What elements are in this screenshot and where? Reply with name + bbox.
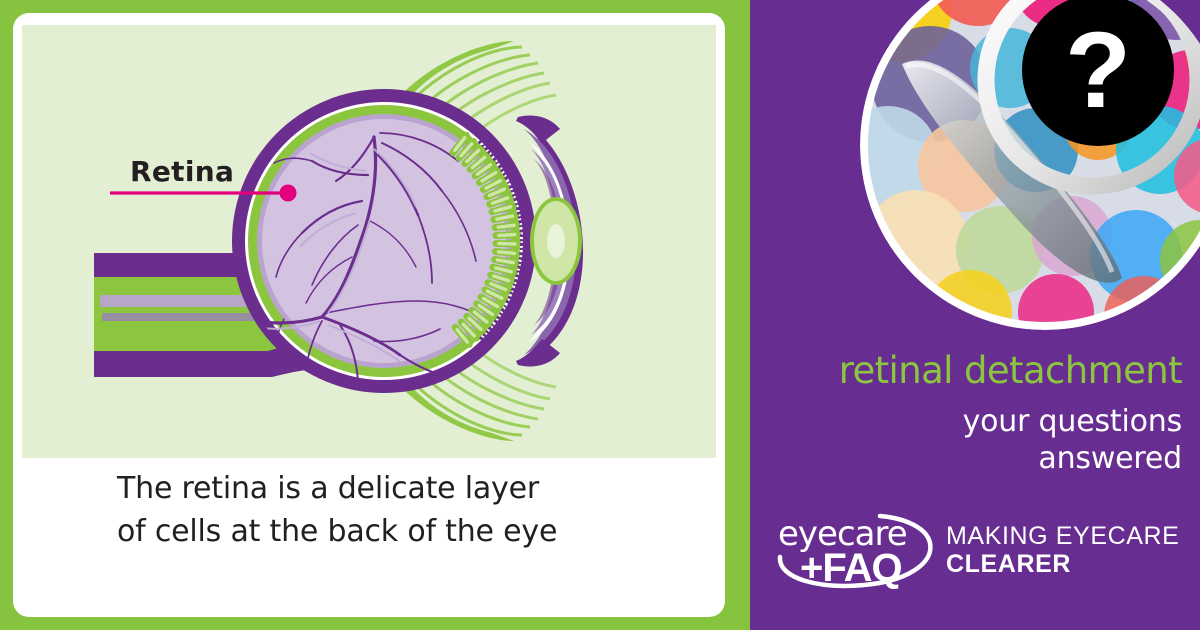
eyecare-faq-logo: eyecare +FAQ (772, 505, 937, 590)
poster-headline: retinal detachment (750, 352, 1182, 389)
info-card: Retina The retina is a delicate layer of… (13, 13, 725, 617)
caption-line-2: of cells at the back of the eye (117, 511, 716, 554)
caption-block: The retina is a delicate layer of cells … (22, 468, 716, 553)
poster-subheadline: your questions answered (750, 404, 1182, 477)
retina-label: Retina (130, 155, 234, 188)
tagline-line-2: CLEARER (946, 550, 1179, 578)
logo-word-faq: +FAQ (800, 546, 902, 590)
retina-callout-icon (22, 25, 716, 458)
question-mark-glyph: ? (1065, 16, 1131, 124)
hero-bokeh-circle: ? (860, 0, 1200, 330)
poster-canvas: Retina The retina is a delicate layer of… (0, 0, 1200, 630)
brand-tagline: MAKING EYECARE CLEARER (946, 522, 1179, 578)
right-panel: ? retinal detachment your questions answ… (750, 0, 1200, 630)
tagline-line-1: MAKING EYECARE (946, 522, 1179, 550)
subheadline-line-1: your questions (750, 404, 1182, 441)
left-panel: Retina The retina is a delicate layer of… (0, 0, 750, 630)
illustration-panel: Retina (22, 25, 716, 458)
subheadline-line-2: answered (750, 441, 1182, 478)
caption-line-1: The retina is a delicate layer (117, 468, 716, 511)
